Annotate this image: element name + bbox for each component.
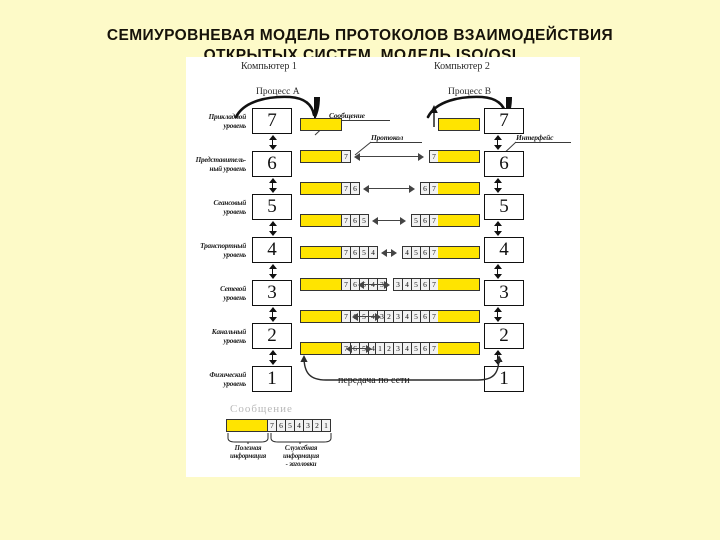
computer-1-caption: Компьютер 1 — [241, 61, 297, 72]
header-5: 5 — [411, 214, 420, 227]
legend-headers-note-line-1: Служебная — [285, 445, 317, 452]
protocol-arrow-layer-3 — [358, 280, 390, 289]
pdu-right-layer-4: 4 5 6 7 — [402, 246, 480, 259]
protocol-arrow-layer-7 — [354, 152, 424, 161]
left-interface-arrow-5-4 — [268, 221, 277, 236]
legend-payload-brace-icon — [226, 433, 270, 445]
pdu-right-layer-7: 7 — [429, 150, 480, 163]
left-interface-arrow-7-6 — [268, 135, 277, 150]
header-4: 4 — [402, 342, 411, 355]
legend-headers-note-line-2: информация — [283, 453, 319, 460]
header-3: 3 — [304, 419, 313, 432]
header-7: 7 — [342, 310, 351, 323]
header-7: 7 — [429, 310, 438, 323]
pdu-left-layer-7: 7 — [300, 150, 351, 163]
layer-7-name: Прикладной уровень — [186, 113, 246, 130]
header-5: 5 — [411, 246, 420, 259]
layer-4-name: Транспортный уровень — [186, 242, 246, 259]
layer-4-name-line-2: уровень — [224, 251, 246, 259]
right-layer-box-3[interactable]: 3 — [484, 280, 524, 306]
computer-2-caption: Компьютер 2 — [434, 61, 490, 72]
header-5: 5 — [360, 246, 369, 259]
pdu-right-layer-1: 1 2 3 4 5 6 7 — [375, 342, 480, 355]
layer-4-name-line-1: Транспортный — [200, 242, 246, 250]
legend-headers-note-line-3: - заголовки — [286, 461, 317, 468]
right-layer-box-4[interactable]: 4 — [484, 237, 524, 263]
pdu-left-message — [300, 118, 342, 131]
header-7: 7 — [342, 182, 351, 195]
left-layer-box-2[interactable]: 2 — [252, 323, 292, 349]
osi-model-figure: Компьютер 1 Компьютер 2 Процесс A Процес… — [186, 57, 580, 477]
pdu-right-layer-6: 6 7 — [420, 182, 480, 195]
right-interface-arrow-3-2 — [493, 307, 502, 322]
pdu-right-layer-5: 5 6 7 — [411, 214, 480, 227]
left-interface-arrow-3-2 — [268, 307, 277, 322]
header-5: 5 — [411, 310, 420, 323]
header-5: 5 — [411, 342, 420, 355]
left-layer-box-3[interactable]: 3 — [252, 280, 292, 306]
interface-annotation-underline — [515, 142, 571, 143]
left-layer-box-6[interactable]: 6 — [252, 151, 292, 177]
pdu-left-layer-2: 7 6 5 4 3 2 — [300, 310, 396, 323]
payload-segment — [438, 246, 480, 259]
header-4: 4 — [295, 419, 304, 432]
pdu-left-layer-4: 7 6 5 4 — [300, 246, 378, 259]
header-6: 6 — [277, 419, 286, 432]
protocol-arrow-layer-1 — [346, 344, 372, 353]
right-interface-arrow-5-4 — [493, 221, 502, 236]
right-layer-box-5[interactable]: 5 — [484, 194, 524, 220]
left-layer-box-4[interactable]: 4 — [252, 237, 292, 263]
right-layer-box-2[interactable]: 2 — [484, 323, 524, 349]
header-4: 4 — [402, 246, 411, 259]
page-title-line-1: СЕМИУРОВНЕВАЯ МОДЕЛЬ ПРОТОКОЛОВ ВЗАИМОДЕ… — [0, 26, 720, 46]
header-2: 2 — [384, 310, 393, 323]
header-5: 5 — [411, 278, 420, 291]
right-interface-arrow-4-3 — [493, 264, 502, 279]
layer-7-name-line-2: уровень — [224, 122, 246, 130]
layer-6-name: Представитель- ный уровень — [186, 156, 246, 173]
header-7: 7 — [342, 246, 351, 259]
header-7: 7 — [429, 214, 438, 227]
payload-segment — [300, 118, 342, 131]
header-7: 7 — [429, 150, 438, 163]
payload-segment — [300, 278, 342, 291]
header-6: 6 — [351, 214, 360, 227]
protocol-arrow-layer-6 — [363, 184, 415, 193]
layer-1-name-line-1: Физический — [209, 371, 246, 379]
right-layer-box-6[interactable]: 6 — [484, 151, 524, 177]
payload-segment — [300, 150, 342, 163]
right-interface-arrow-7-6 — [493, 135, 502, 150]
header-1: 1 — [375, 342, 384, 355]
legend-headers-note: Служебная информация - заголовки — [268, 445, 334, 469]
header-6: 6 — [420, 278, 429, 291]
layer-5-name: Сеансовый уровень — [186, 199, 246, 216]
header-5: 5 — [286, 419, 295, 432]
right-layer-box-7[interactable]: 7 — [484, 108, 524, 134]
header-7: 7 — [429, 246, 438, 259]
layer-2-name: Канальный уровень — [186, 328, 246, 345]
legend-payload-note-line-1: Полезная — [235, 445, 262, 452]
header-6: 6 — [420, 342, 429, 355]
right-interface-arrow-6-5 — [493, 178, 502, 193]
network-transfer-caption: передача по сети — [338, 375, 410, 386]
layer-3-name: Сетевой уровень — [186, 285, 246, 302]
header-6: 6 — [420, 246, 429, 259]
protocol-arrow-layer-4 — [381, 248, 397, 257]
layer-6-name-line-1: Представитель- — [196, 156, 246, 164]
header-1: 1 — [322, 419, 331, 432]
layer-1-name-line-2: уровень — [224, 380, 246, 388]
header-3: 3 — [393, 342, 402, 355]
left-interface-arrow-2-1 — [268, 350, 277, 365]
header-4: 4 — [402, 310, 411, 323]
payload-segment — [438, 278, 480, 291]
header-6: 6 — [420, 182, 429, 195]
header-7: 7 — [429, 278, 438, 291]
pdu-right-message — [438, 118, 480, 131]
left-interface-arrow-4-3 — [268, 264, 277, 279]
left-layer-box-1[interactable]: 1 — [252, 366, 292, 392]
protocol-arrow-layer-5 — [372, 216, 406, 225]
header-2: 2 — [384, 342, 393, 355]
layer-2-name-line-2: уровень — [224, 337, 246, 345]
header-3: 3 — [393, 310, 402, 323]
layer-3-name-line-2: уровень — [224, 294, 246, 302]
protocol-annotation-label: Протокол — [371, 133, 403, 142]
layer-3-name-line-1: Сетевой — [220, 285, 246, 293]
pdu-right-layer-3: 3 4 5 6 7 — [393, 278, 480, 291]
payload-segment — [300, 246, 342, 259]
layer-5-name-line-2: уровень — [224, 208, 246, 216]
payload-segment — [438, 118, 480, 131]
header-7: 7 — [429, 182, 438, 195]
payload-segment — [438, 214, 480, 227]
left-layer-box-5[interactable]: 5 — [252, 194, 292, 220]
header-7: 7 — [429, 342, 438, 355]
header-4: 4 — [369, 246, 378, 259]
pdu-right-layer-2: 2 3 4 5 6 7 — [384, 310, 480, 323]
protocol-arrow-layer-2 — [352, 312, 381, 321]
payload-segment — [438, 310, 480, 323]
payload-segment — [438, 182, 480, 195]
interface-annotation-label: Интерфейс — [516, 133, 553, 142]
pdu-left-layer-5: 7 6 5 — [300, 214, 369, 227]
header-2: 2 — [313, 419, 322, 432]
payload-segment — [226, 419, 268, 432]
header-6: 6 — [420, 310, 429, 323]
header-7: 7 — [342, 278, 351, 291]
payload-segment — [300, 342, 342, 355]
left-interface-arrow-6-5 — [268, 178, 277, 193]
header-6: 6 — [420, 214, 429, 227]
payload-segment — [300, 182, 342, 195]
header-4: 4 — [402, 278, 411, 291]
header-3: 3 — [393, 278, 402, 291]
payload-segment — [438, 150, 480, 163]
legend-title: Сообщение — [230, 403, 293, 415]
legend-payload-note-line-2: информация — [230, 453, 266, 460]
header-7: 7 — [268, 419, 277, 432]
left-layer-box-7[interactable]: 7 — [252, 108, 292, 134]
header-7: 7 — [342, 214, 351, 227]
payload-segment — [300, 310, 342, 323]
header-6: 6 — [351, 182, 360, 195]
protocol-annotation-underline — [370, 142, 422, 143]
layer-5-name-line-1: Сеансовый — [213, 199, 246, 207]
layer-1-name: Физический уровень — [186, 371, 246, 388]
layer-6-name-line-2: ный уровень — [210, 165, 246, 173]
header-7: 7 — [342, 150, 351, 163]
pdu-left-layer-6: 7 6 — [300, 182, 360, 195]
layer-7-name-line-1: Прикладной — [209, 113, 246, 121]
header-5: 5 — [360, 214, 369, 227]
layer-2-name-line-1: Канальный — [212, 328, 246, 336]
payload-segment — [438, 342, 480, 355]
legend-pdu-sample: 7 6 5 4 3 2 1 — [226, 419, 331, 432]
payload-segment — [300, 214, 342, 227]
header-6: 6 — [351, 246, 360, 259]
legend-headers-brace-icon — [269, 433, 333, 445]
